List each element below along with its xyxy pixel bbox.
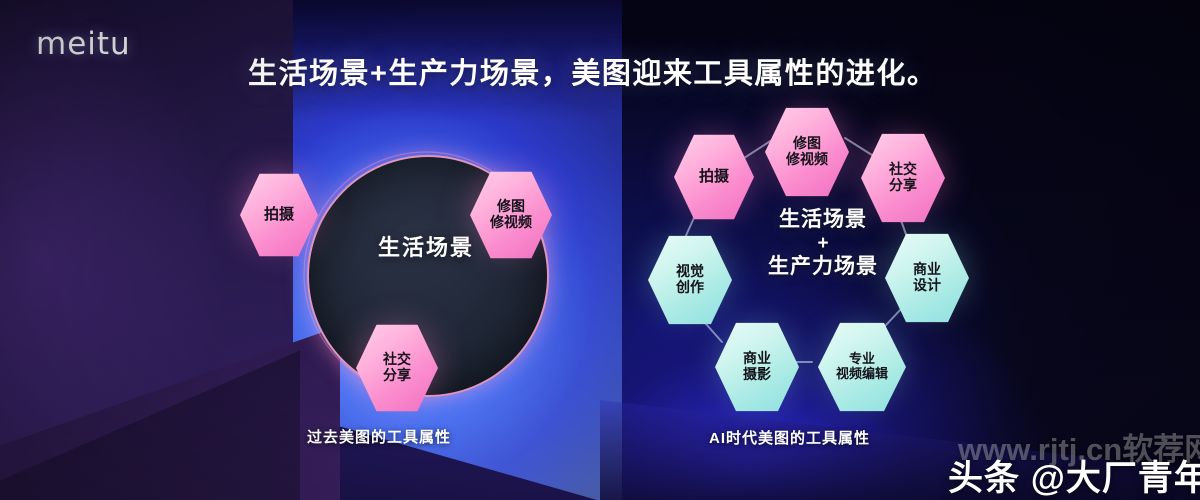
ai-node-visual-label-line2: 创作 bbox=[676, 280, 704, 296]
slide-canvas: meitu 生活场景+生产力场景，美图迎来工具属性的进化。 生活场景 拍摄 修图… bbox=[0, 0, 1200, 500]
ai-node-design-label-line2: 设计 bbox=[913, 278, 941, 294]
node-shoot-label: 拍摄 bbox=[264, 207, 294, 224]
ai-node-visual-label-line1: 视觉 bbox=[676, 264, 704, 280]
ai-node-social-label-line2: 分享 bbox=[889, 178, 917, 194]
ai-node-video-label-line1: 专业 bbox=[849, 352, 875, 367]
slide-headline: 生活场景+生产力场景，美图迎来工具属性的进化。 bbox=[248, 50, 937, 92]
ai-center-line3: 生产力场景 bbox=[735, 255, 911, 280]
ai-node-photo-label-line1: 商业 bbox=[743, 351, 771, 367]
diagram-ai-era-caption: AI时代美图的工具属性 bbox=[709, 427, 870, 448]
meitu-logo: meitu bbox=[36, 26, 131, 62]
ai-center-line1: 生活场景 bbox=[735, 208, 911, 233]
ai-node-design-label-line1: 商业 bbox=[913, 262, 941, 278]
node-social-label-line2: 分享 bbox=[383, 368, 411, 384]
ai-node-video-label-line2: 视频编辑 bbox=[836, 367, 888, 382]
ai-center-label: 生活场景 + 生产力场景 bbox=[735, 208, 911, 280]
ai-center-plus: + bbox=[735, 233, 911, 255]
watermark-account: 头条 @大厂青年 bbox=[948, 450, 1200, 500]
ai-node-shoot-label: 拍摄 bbox=[699, 169, 729, 186]
ai-node-edit-label-line1: 修图 bbox=[793, 136, 821, 152]
node-edit-label-line1: 修图 bbox=[497, 199, 525, 215]
ai-node-edit-label-line2: 修视频 bbox=[786, 152, 828, 168]
diagram-past-caption: 过去美图的工具属性 bbox=[307, 426, 451, 447]
node-social-label-line1: 社交 bbox=[383, 352, 411, 368]
ai-node-photo-label-line2: 摄影 bbox=[743, 367, 771, 383]
node-edit-label-line2: 修视频 bbox=[490, 215, 532, 231]
ai-node-social-label-line1: 社交 bbox=[889, 162, 917, 178]
